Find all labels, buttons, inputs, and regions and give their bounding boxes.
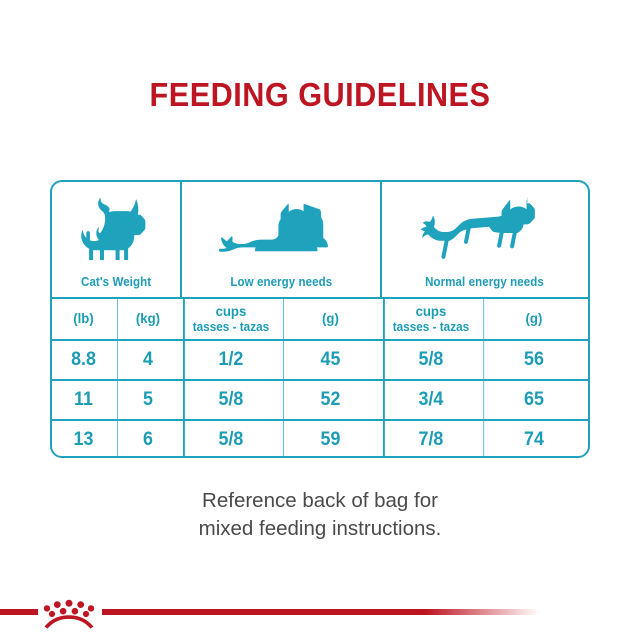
- page-title: FEEDING GUIDELINES: [22, 76, 617, 114]
- subheader-normal-grams-line1: (g): [526, 311, 543, 327]
- brand-bar: [0, 598, 640, 640]
- cell-weight-kg: 6: [117, 421, 178, 458]
- header-label-cats-weight: Cat's Weight: [81, 275, 151, 289]
- cell-normal-cups: 3/4: [383, 381, 477, 419]
- subheader-low-cups-line1: cups: [216, 304, 247, 320]
- header-cell-low-energy: Low energy needs: [180, 182, 380, 297]
- table-subheader-row: (lb) (kg) cups tasses - tazas (g) cups t…: [52, 297, 588, 339]
- cell-weight-lb: 13: [54, 421, 113, 458]
- cat-standing-icon: [52, 182, 180, 275]
- cell-low-grams: 59: [283, 421, 377, 458]
- subheader-cell-normal-grams: (g): [483, 299, 584, 339]
- table-icon-header-row: Cat's Weight Low energy needs No: [52, 182, 588, 297]
- brand-rule-left: [0, 609, 38, 615]
- cell-weight-kg: 5: [117, 381, 178, 419]
- footer-note-line2: mixed feeding instructions.: [0, 515, 640, 543]
- feeding-guidelines-table: Cat's Weight Low energy needs No: [50, 180, 590, 458]
- subheader-cell-normal-cups: cups tasses - tazas: [383, 299, 477, 339]
- cell-normal-grams: 56: [483, 341, 584, 379]
- header-label-low-energy: Low energy needs: [230, 275, 332, 289]
- cell-normal-grams: 74: [483, 421, 584, 458]
- footer-note-line1: Reference back of bag for: [0, 487, 640, 515]
- cell-weight-kg: 4: [117, 341, 178, 379]
- cell-normal-cups: 5/8: [383, 341, 477, 379]
- cat-lying-icon: [182, 182, 380, 275]
- cell-low-cups: 5/8: [183, 421, 277, 458]
- subheader-low-cups-line2: tasses - tazas: [193, 320, 269, 334]
- table-row: 11 5 5/8 52 3/4 65: [52, 379, 588, 419]
- subheader-kg-line1: (kg): [136, 311, 160, 327]
- cell-weight-lb: 11: [54, 381, 113, 419]
- subheader-low-grams-line1: (g): [322, 311, 339, 327]
- subheader-cell-lb: (lb): [54, 299, 113, 339]
- header-label-normal-energy: Normal energy needs: [425, 275, 544, 289]
- subheader-lb-line1: (lb): [73, 311, 93, 327]
- subheader-cell-low-cups: cups tasses - tazas: [183, 299, 277, 339]
- table-row: 13 6 5/8 59 7/8 74: [52, 419, 588, 458]
- subheader-normal-cups-line2: tasses - tazas: [393, 320, 469, 334]
- cell-low-cups: 1/2: [183, 341, 277, 379]
- cell-low-grams: 45: [283, 341, 377, 379]
- cell-low-cups: 5/8: [183, 381, 277, 419]
- table-row: 8.8 4 1/2 45 5/8 56: [52, 339, 588, 379]
- header-cell-normal-energy: Normal energy needs: [380, 182, 587, 297]
- subheader-cell-low-grams: (g): [283, 299, 377, 339]
- cell-normal-grams: 65: [483, 381, 584, 419]
- cell-weight-lb: 8.8: [54, 341, 113, 379]
- cell-low-grams: 52: [283, 381, 377, 419]
- brand-rule-right: [102, 609, 540, 615]
- footer-note: Reference back of bag for mixed feeding …: [0, 487, 640, 542]
- cell-normal-cups: 7/8: [383, 421, 477, 458]
- subheader-cell-kg: (kg): [117, 299, 178, 339]
- header-cell-cats-weight: Cat's Weight: [52, 182, 180, 297]
- subheader-normal-cups-line1: cups: [416, 304, 447, 320]
- royal-canin-crown-logo: [40, 598, 98, 630]
- cat-walking-icon: [382, 182, 587, 275]
